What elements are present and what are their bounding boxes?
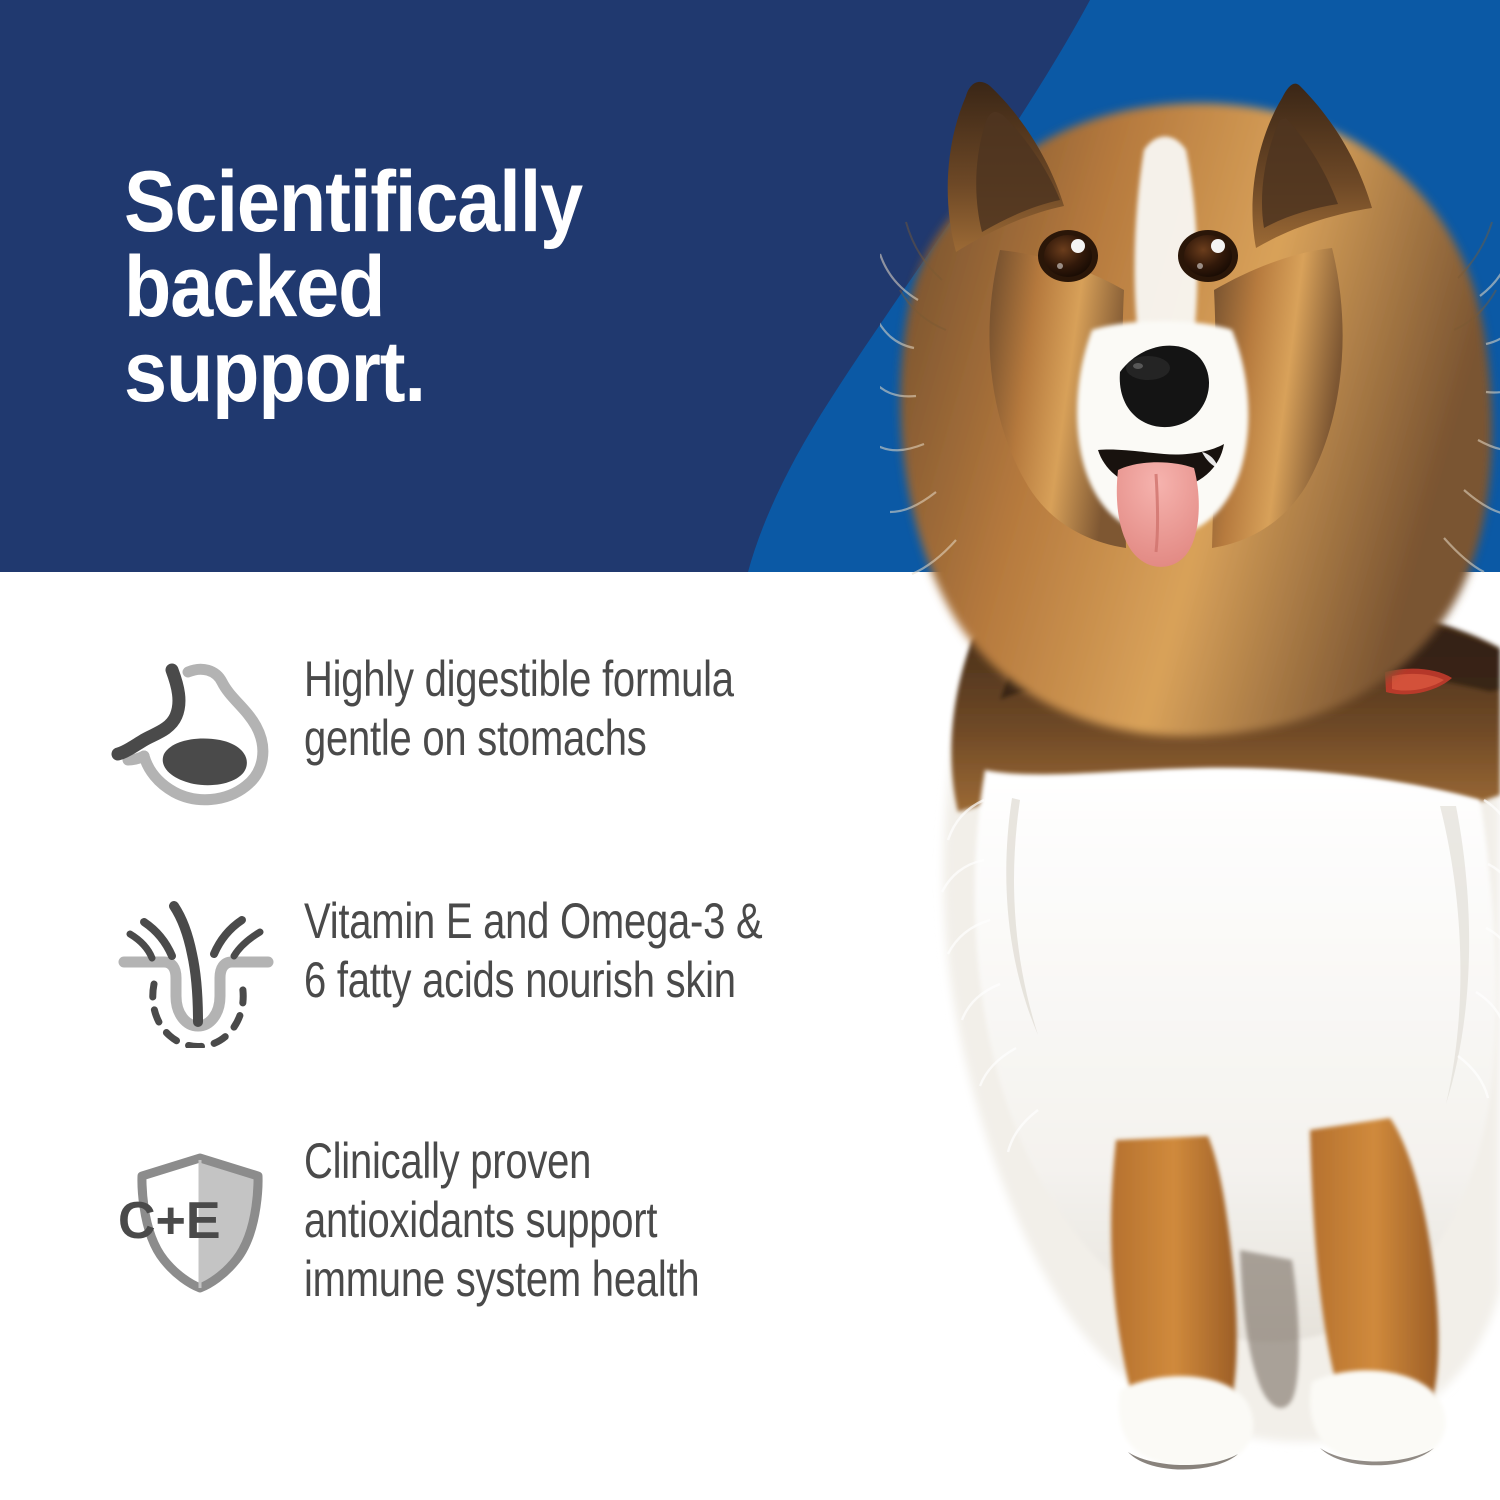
feature-text-skin-coat: Vitamin E and Omega-3 & 6 fatty acids no… [304, 892, 944, 1010]
dog-head [880, 82, 1500, 736]
hair-follicle-icon [110, 898, 280, 1048]
feature-item-antioxidants: C+E Clinically proven antioxidants suppo… [110, 1132, 1104, 1309]
shield-antioxidant-icon: C+E [110, 1138, 280, 1298]
stomach-icon [110, 656, 280, 806]
feature-text-digestibility: Highly digestible formula gentle on stom… [304, 650, 944, 768]
feature-text-antioxidants: Clinically proven antioxidants support i… [304, 1132, 944, 1309]
stomach-icon-wrapper [110, 650, 280, 806]
feature-item-skin-coat: Vitamin E and Omega-3 & 6 fatty acids no… [110, 892, 1104, 1048]
page-title: Scientifically backed support. [124, 160, 844, 415]
hair-follicle-icon-wrapper [110, 892, 280, 1048]
dog-face-blaze [1135, 137, 1198, 337]
feature-item-digestibility: Highly digestible formula gentle on stom… [110, 650, 1104, 806]
shield-badge-label: C+E [118, 1192, 221, 1250]
dog-right-eye [1178, 230, 1238, 282]
feature-list: Highly digestible formula gentle on stom… [0, 572, 960, 1500]
dog-left-eye [1038, 230, 1098, 282]
product-feature-graphic: Scientifically backed support. [0, 0, 1500, 1500]
shield-antioxidant-icon-wrapper: C+E [110, 1132, 280, 1298]
